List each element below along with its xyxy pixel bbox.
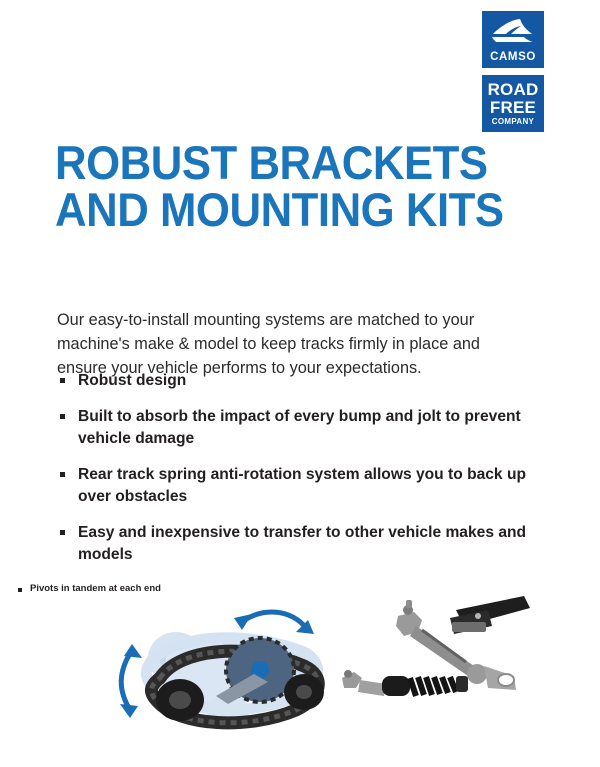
spring-shock-part bbox=[342, 670, 468, 696]
feature-list: Robust design Built to absorb the impact… bbox=[58, 370, 528, 580]
rail-bracket-part bbox=[450, 596, 530, 634]
footnote-label: Pivots in tandem at each end bbox=[30, 583, 161, 594]
bullet-square-icon bbox=[60, 378, 65, 383]
page-title-line-1: ROBUST BRACKETS bbox=[55, 139, 501, 186]
footnote: Pivots in tandem at each end bbox=[18, 583, 161, 594]
brand-logo-stack: CAMSO ROAD FREE COMPANY bbox=[482, 11, 546, 132]
bullet-square-icon bbox=[60, 414, 65, 419]
idler-wheel bbox=[156, 679, 204, 721]
list-item: Built to absorb the impact of every bump… bbox=[58, 406, 528, 450]
camso-logo: CAMSO bbox=[482, 11, 544, 68]
page-title-line-2: AND MOUNTING KITS bbox=[55, 186, 501, 233]
list-item-label: Rear track spring anti-rotation system a… bbox=[78, 464, 528, 508]
bullet-square-icon bbox=[60, 472, 65, 477]
bullet-square-icon bbox=[18, 588, 22, 592]
bullet-square-icon bbox=[60, 530, 65, 535]
list-item: Rear track spring anti-rotation system a… bbox=[58, 464, 528, 508]
rear-wheel bbox=[284, 674, 324, 710]
badge-line-free: FREE bbox=[490, 99, 536, 116]
track-system-pivot-illustration bbox=[108, 600, 343, 740]
road-free-company-badge: ROAD FREE COMPANY bbox=[482, 75, 544, 132]
pivot-arrow-vertical bbox=[121, 650, 132, 710]
bracket-hardware-photo bbox=[338, 592, 533, 722]
coil-spring bbox=[410, 677, 456, 696]
list-item: Robust design bbox=[58, 370, 528, 392]
page-root: CAMSO ROAD FREE COMPANY ROBUST BRACKETS … bbox=[0, 0, 600, 767]
pivot-arrow-horizontal-head-left bbox=[234, 614, 252, 630]
list-item: Easy and inexpensive to transfer to othe… bbox=[58, 522, 528, 566]
track-system-graphic bbox=[108, 600, 343, 740]
list-item-label: Robust design bbox=[78, 370, 528, 392]
pivot-arrow-vertical-head-top bbox=[124, 644, 142, 658]
badge-line-company: COMPANY bbox=[492, 118, 534, 126]
list-item-label: Easy and inexpensive to transfer to othe… bbox=[78, 522, 528, 566]
badge-line-road: ROAD bbox=[488, 81, 539, 98]
list-item-label: Built to absorb the impact of every bump… bbox=[78, 406, 528, 450]
camso-wordmark: CAMSO bbox=[482, 51, 544, 63]
bracket-hardware-graphic bbox=[338, 592, 533, 722]
camso-swoosh-icon bbox=[490, 18, 536, 44]
page-title: ROBUST BRACKETS AND MOUNTING KITS bbox=[55, 139, 501, 233]
pivot-arrow-vertical-head-bottom bbox=[120, 704, 138, 718]
